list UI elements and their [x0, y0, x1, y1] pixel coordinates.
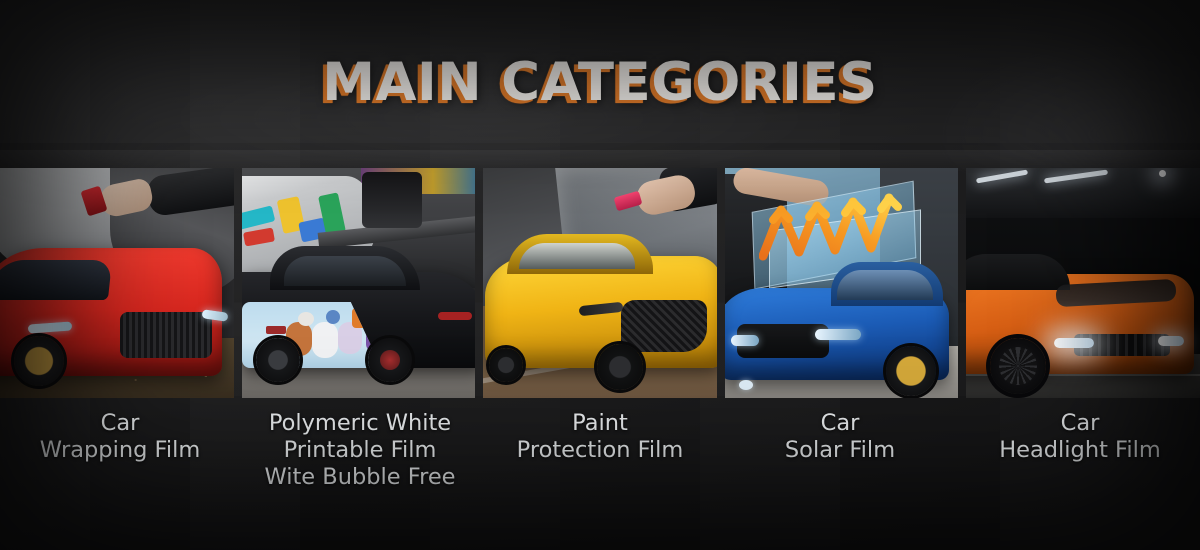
yellow-lexus-car [485, 256, 717, 368]
rear-wheel [489, 348, 523, 382]
caption-polymeric-white-printable-film[interactable]: Polymeric White Printable Film Wite Bubb… [240, 398, 480, 550]
street-lamp [1159, 170, 1166, 177]
caption-car-headlight-film[interactable]: Car Headlight Film [960, 398, 1200, 550]
print-color-swatch [243, 228, 275, 247]
anime-detail [298, 312, 314, 326]
category-label: Car Headlight Film [999, 410, 1161, 464]
car-window [519, 243, 635, 269]
main-categories-banner: MAIN CATEGORIES [0, 0, 1200, 550]
wrap-text-mark [266, 326, 286, 334]
fog-light-icon [739, 380, 753, 390]
rear-wheel [368, 338, 412, 382]
car-wrapping-film-image [0, 168, 234, 398]
category-tile-car-solar-film[interactable] [725, 168, 959, 398]
category-label: Car Wrapping Film [40, 410, 201, 464]
caption-car-solar-film[interactable]: Car Solar Film [720, 398, 960, 550]
headlight-right-icon [1158, 336, 1184, 346]
caption-paint-protection-film[interactable]: Paint Protection Film [480, 398, 720, 550]
category-tile-polymeric-white-printable-film[interactable] [242, 168, 476, 398]
category-label: Paint Protection Film [517, 410, 684, 464]
front-wheel [14, 336, 64, 386]
category-label: Car Solar Film [785, 410, 895, 464]
page-title: MAIN CATEGORIES [322, 52, 877, 114]
headlight-left-icon [1054, 338, 1094, 348]
printer-head [362, 172, 422, 228]
category-image-grid [0, 168, 1200, 398]
headlight-left-icon [815, 329, 861, 340]
headlight-right-icon [731, 335, 759, 346]
front-wheel [256, 338, 300, 382]
category-label: Polymeric White Printable Film Wite Bubb… [264, 410, 455, 491]
category-labels: Car Wrapping Film Polymeric White Printa… [0, 398, 1200, 550]
tail-light-icon [438, 312, 472, 320]
car-headlight-film-image [966, 168, 1200, 398]
headlight-icon [579, 302, 624, 317]
anime-detail [326, 310, 340, 324]
anime-character [312, 322, 338, 358]
car-cabin [966, 254, 1070, 290]
car-window [284, 256, 406, 286]
hood-vent [1056, 279, 1177, 307]
windshield [0, 260, 112, 300]
uv-reflection-arrows-icon [759, 186, 909, 262]
car-solar-film-image [725, 168, 959, 398]
car-window [837, 270, 933, 300]
front-grille [120, 312, 212, 358]
polymeric-white-printable-film-image [242, 168, 476, 398]
category-tile-paint-protection-film[interactable] [483, 168, 717, 398]
front-wheel [597, 344, 643, 390]
front-grille [621, 300, 707, 352]
category-tile-car-wrapping-film[interactable] [0, 168, 234, 398]
page-title-container: MAIN CATEGORIES [0, 52, 1200, 114]
paint-protection-film-image [483, 168, 717, 398]
category-tile-car-headlight-film[interactable] [966, 168, 1200, 398]
front-wheel [990, 338, 1046, 394]
caption-car-wrapping-film[interactable]: Car Wrapping Film [0, 398, 240, 550]
anime-detail [352, 308, 374, 328]
